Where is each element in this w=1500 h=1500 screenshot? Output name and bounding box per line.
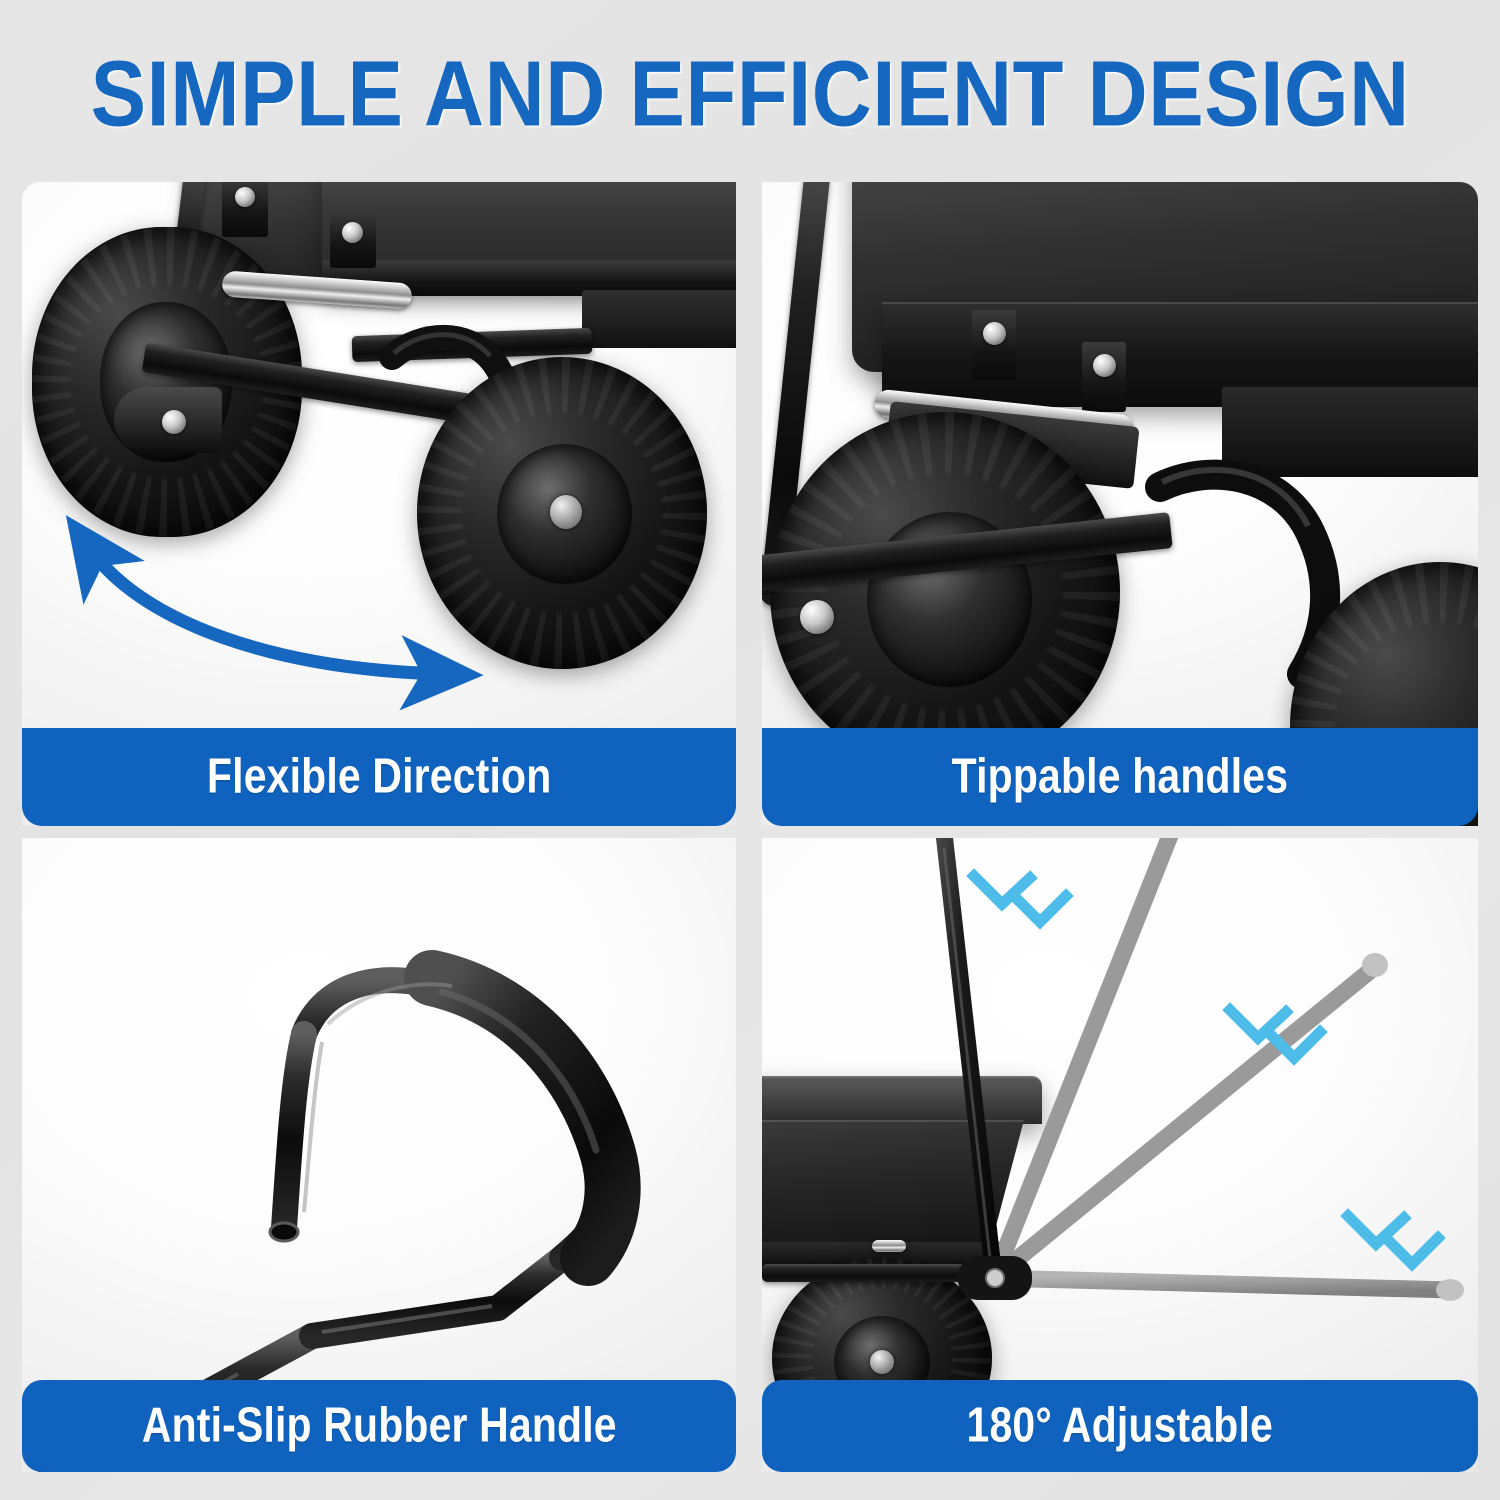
feature-panel-flexible-direction: Flexible Direction bbox=[22, 182, 736, 826]
handle-current-position-upright bbox=[940, 838, 994, 1278]
panel-caption-flexible-direction: Flexible Direction bbox=[22, 728, 736, 826]
feature-panel-anti-slip-handle: Anti-Slip Rubber Handle bbox=[22, 838, 736, 1472]
handle-pivot-joint bbox=[958, 1256, 1032, 1300]
panel-caption-180-adjustable: 180° Adjustable bbox=[762, 1380, 1478, 1472]
page-title: SIMPLE AND EFFICIENT DESIGN bbox=[90, 48, 1409, 141]
caption-label: Flexible Direction bbox=[207, 749, 551, 805]
tow-handle-illustration bbox=[22, 838, 736, 1472]
feature-panel-tippable-handles: Tippable handles bbox=[762, 182, 1478, 826]
motion-chevrons-lower bbox=[1348, 1216, 1438, 1264]
page-header: SIMPLE AND EFFICIENT DESIGN bbox=[0, 0, 1500, 182]
motion-chevrons-upper bbox=[974, 876, 1066, 922]
feature-panel-180-adjustable: 180° Adjustable bbox=[762, 838, 1478, 1472]
panel-caption-tippable-handles: Tippable handles bbox=[762, 728, 1478, 826]
product-photo-anti-slip-handle bbox=[22, 838, 736, 1472]
caption-label: Tippable handles bbox=[952, 749, 1288, 805]
caption-label: 180° Adjustable bbox=[967, 1398, 1273, 1454]
handle-positions-diagram bbox=[762, 838, 1478, 1472]
caption-label: Anti-Slip Rubber Handle bbox=[142, 1398, 617, 1454]
product-photo-180-adjustable bbox=[762, 838, 1478, 1472]
panel-caption-anti-slip-handle: Anti-Slip Rubber Handle bbox=[22, 1380, 736, 1472]
handle-ghost-position-4 bbox=[994, 1278, 1464, 1301]
